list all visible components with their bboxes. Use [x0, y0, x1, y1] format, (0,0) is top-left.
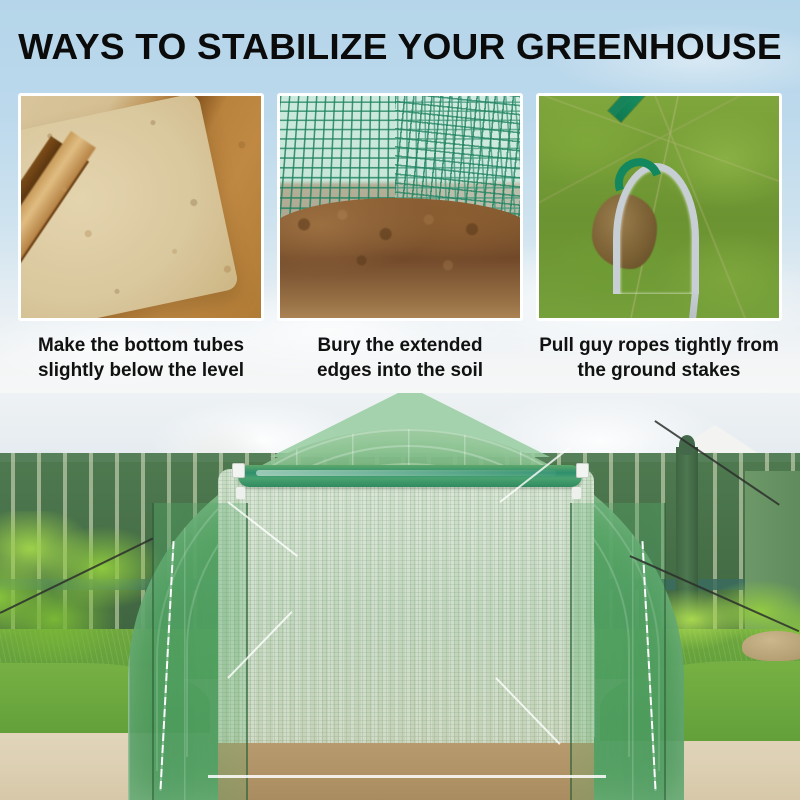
base-rail [208, 775, 606, 778]
flap-clip-icon [236, 487, 245, 499]
step-photo-3 [536, 93, 782, 321]
greenhouse-opening [218, 469, 594, 800]
hero-scene [0, 393, 800, 800]
step-photo-1 [18, 93, 264, 321]
trench-photo [21, 96, 261, 318]
soil-texture [21, 96, 261, 318]
step-photo-2 [277, 93, 523, 321]
flap-clip-icon [232, 463, 245, 478]
step-caption-3: Pull guy ropes tightly from the ground s… [530, 333, 788, 383]
rock-right [742, 631, 800, 661]
greenhouse [100, 393, 712, 800]
ground-stake-photo [539, 96, 779, 318]
buried-mesh-photo [280, 96, 520, 318]
soil-background [21, 96, 261, 318]
door-curtain-right [570, 503, 666, 800]
page-title: WAYS TO STABILIZE YOUR GREENHOUSE [0, 26, 800, 68]
step-caption-1: Make the bottom tubes slightly below the… [12, 333, 270, 383]
flap-clip-icon [576, 463, 589, 478]
mossy-ground [539, 96, 779, 318]
soil-background [280, 96, 520, 318]
flap-highlight [256, 470, 556, 476]
soil-clods [280, 198, 520, 318]
step-caption-2: Bury the extended edges into the soil [271, 333, 529, 383]
flap-clip-icon [572, 487, 581, 499]
greenhouse-interior-floor [218, 743, 594, 800]
infographic-page: WAYS TO STABILIZE YOUR GREENHOUSE [0, 0, 800, 800]
caption-row: Make the bottom tubes slightly below the… [0, 333, 800, 393]
photo-row [0, 93, 800, 321]
